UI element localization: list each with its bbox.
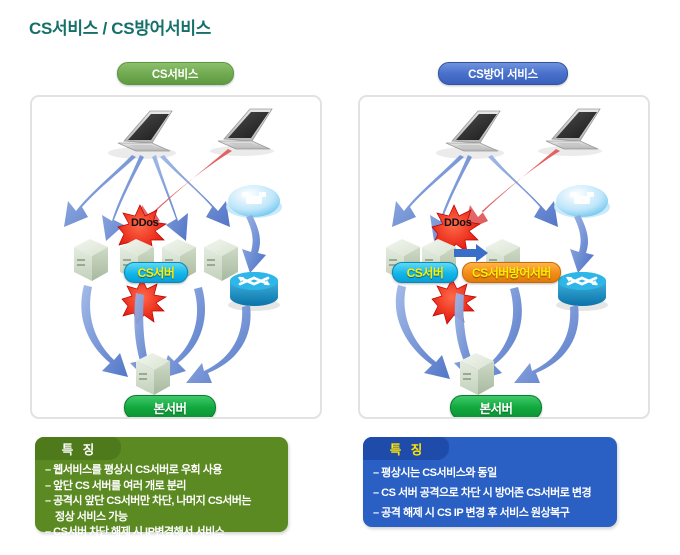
- server-icon: [74, 239, 108, 281]
- laptop-icon: [436, 111, 504, 159]
- failover-arrow: [454, 244, 488, 262]
- ddos-label: DDos: [444, 217, 472, 229]
- list-item: – 공격 해제 시 CS IP 변경 후 서비스 원상복구: [373, 503, 617, 523]
- cloud-icon: [226, 185, 282, 218]
- list-item: – 웹서비스를 평상시 CS서버로 우회 사용: [45, 463, 288, 479]
- column-cs-service: CS서비스: [30, 62, 320, 419]
- router-icon: [556, 272, 608, 311]
- diagram-graphic-cs-service: [32, 97, 320, 417]
- explosion-icon: [122, 279, 166, 324]
- diagram-graphic-cs-defense-service: [360, 97, 648, 417]
- feature-header-label: 특 징: [387, 439, 425, 458]
- cs-defense-server-tag[interactable]: CS서버방어서버: [462, 262, 561, 283]
- list-item: – CS서버 차단 해제 시 IP변경해서 서비스: [45, 525, 288, 541]
- list-item: – 평상시는 CS서비스와 동일: [373, 463, 617, 483]
- main-server-tag[interactable]: 본서버: [124, 395, 216, 419]
- list-item: – 공격시 앞단 CS서버만 차단, 나머지 CS서버는: [45, 494, 288, 510]
- cloud-icon: [554, 185, 610, 218]
- feature-header-label: 특 징: [59, 439, 97, 458]
- list-item: – 앞단 CS 서버를 여러 개로 분리: [45, 479, 288, 495]
- laptop-icon: [538, 109, 602, 156]
- diagram-panel-cs-service: DDos CS서버 본서버: [30, 95, 322, 419]
- explosion-icon: [432, 279, 476, 324]
- list-item: – CS 서버 공격으로 차단 시 방어존 CS서버로 변경: [373, 483, 617, 503]
- cs-server-tag[interactable]: CS서버: [392, 262, 458, 283]
- panel-header-cs-service[interactable]: CS서비스: [117, 62, 234, 85]
- flow-arrow-down: [392, 155, 558, 241]
- feature-box-cs-defense-service: 특 징 – 평상시는 CS서비스와 동일 – CS 서버 공격으로 차단 시 방…: [363, 437, 617, 527]
- feature-box-cs-service: 특 징 – 웹서비스를 평상시 CS서버로 우회 사용 – 앞단 CS 서버를 …: [35, 437, 288, 532]
- list-item-continuation: 정상 서비스 가능: [45, 510, 288, 526]
- server-icon: [204, 239, 238, 281]
- column-cs-defense-service: CS방어 서비스: [358, 62, 648, 419]
- feature-header-tab: 특 징: [35, 437, 121, 460]
- arrow-cloud-to-router: [242, 215, 266, 273]
- laptop-icon: [108, 111, 176, 159]
- cs-server-tag[interactable]: CS서버: [124, 262, 188, 283]
- diagram-panel-cs-defense-service: DDos CS서버 CS서버방어서버 본서버: [358, 95, 650, 419]
- ddos-label: DDos: [131, 217, 159, 229]
- page-title: CS서비스 / CS방어서비스: [29, 14, 211, 39]
- arrow-cloud-to-router: [570, 215, 594, 273]
- server-icon: [136, 353, 170, 395]
- server-icon: [460, 353, 494, 395]
- laptop-icon: [210, 109, 274, 156]
- router-icon: [228, 272, 280, 311]
- panel-header-cs-defense-service[interactable]: CS방어 서비스: [438, 62, 568, 85]
- feature-header-tab: 특 징: [363, 437, 449, 460]
- main-server-tag[interactable]: 본서버: [450, 395, 542, 419]
